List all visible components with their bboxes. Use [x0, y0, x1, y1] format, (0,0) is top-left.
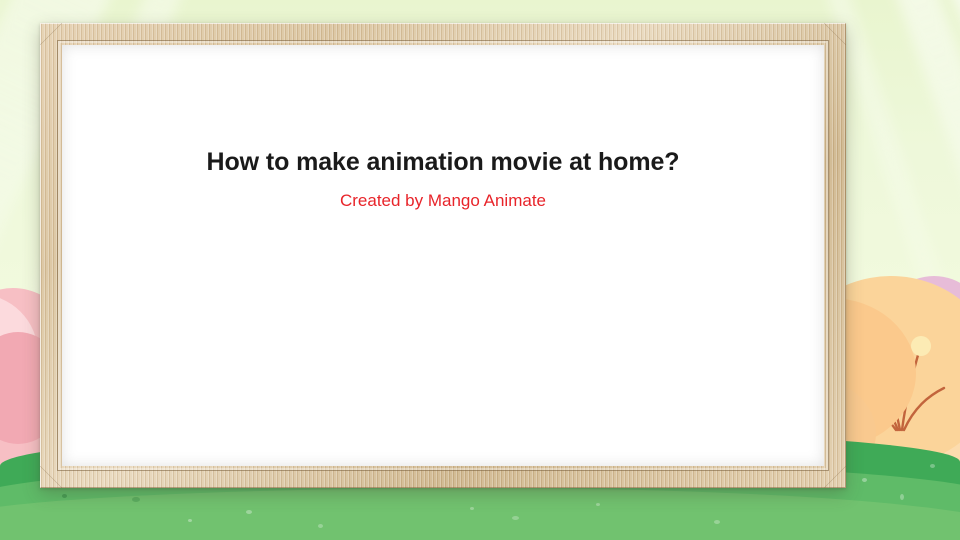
frame-mitre-corner	[824, 23, 846, 45]
grass-speck	[862, 478, 867, 482]
grass-speck	[132, 497, 140, 502]
grass-speck	[930, 464, 935, 468]
frame-mitre-corner	[40, 23, 62, 45]
grass-speck	[596, 503, 600, 506]
presentation-slide: How to make animation movie at home? Cre…	[0, 0, 960, 540]
grass-speck	[318, 524, 323, 528]
grass-speck	[246, 510, 252, 514]
grass-speck	[62, 494, 67, 498]
slide-text-block: How to make animation movie at home? Cre…	[62, 147, 824, 211]
frame-mitre-corner	[824, 466, 846, 488]
slide-canvas: How to make animation movie at home? Cre…	[62, 45, 824, 466]
wooden-picture-frame: How to make animation movie at home? Cre…	[40, 23, 846, 488]
slide-subtitle: Created by Mango Animate	[62, 191, 824, 211]
grass-speck	[714, 520, 720, 524]
slide-title: How to make animation movie at home?	[62, 147, 824, 177]
grass-speck	[900, 494, 904, 500]
grass-speck	[470, 507, 474, 510]
grass-speck	[512, 516, 519, 520]
frame-mitre-corner	[40, 466, 62, 488]
grass-speck	[188, 519, 192, 522]
